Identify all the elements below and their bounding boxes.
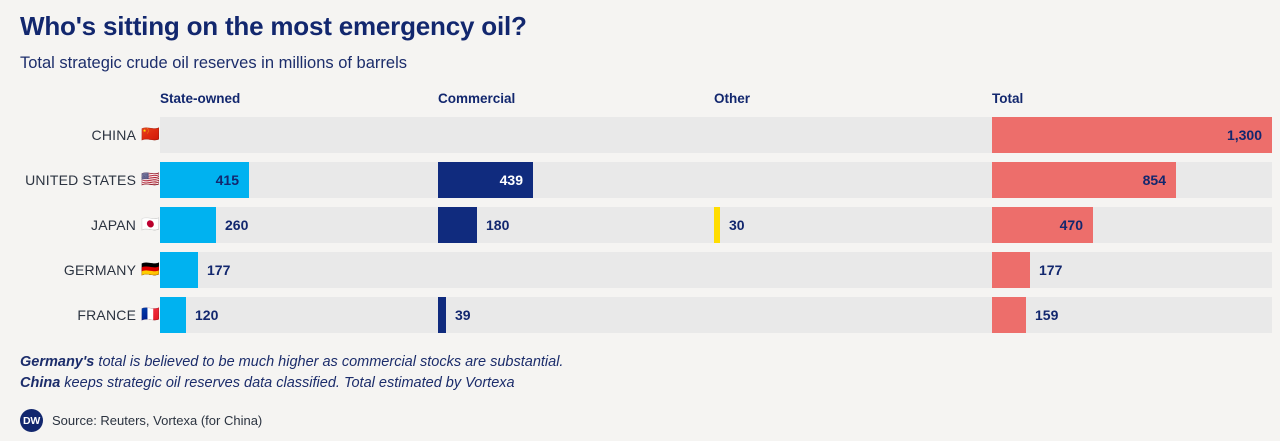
bar-track-state-owned: 260 [160, 207, 440, 243]
flag-us-icon: 🇺🇸 [141, 172, 160, 187]
bar-track-total: 177 [992, 252, 1272, 288]
country-name: UNITED STATES [25, 172, 136, 188]
bar-value-total: 470 [1060, 207, 1083, 243]
bar-state-owned[interactable]: 177 [160, 252, 198, 288]
bar-value-state-owned: 260 [225, 207, 248, 243]
bar-state-owned[interactable]: 260 [160, 207, 216, 243]
bar-track-commercial: 39 [438, 297, 718, 333]
row-label-united-states: UNITED STATES🇺🇸 [20, 162, 160, 198]
bar-total[interactable]: 1,300 [992, 117, 1272, 153]
bar-track-other [714, 297, 994, 333]
bar-track-other: 30 [714, 207, 994, 243]
footnote-china-text: keeps strategic oil reserves data classi… [60, 375, 514, 391]
bar-value-commercial: 180 [486, 207, 509, 243]
footnote-china-lead: China [20, 375, 60, 391]
bar-track-other [714, 162, 994, 198]
bar-state-owned[interactable]: 120 [160, 297, 186, 333]
bar-track-total: 1,300 [992, 117, 1272, 153]
bar-commercial[interactable]: 180 [438, 207, 477, 243]
bar-track-commercial [438, 252, 718, 288]
bar-value-total: 1,300 [1227, 117, 1262, 153]
bar-track-commercial: 180 [438, 207, 718, 243]
flag-cn-icon: 🇨🇳 [141, 127, 160, 142]
table-row: JAPAN🇯🇵26018030470 [20, 207, 1260, 243]
country-name: CHINA [92, 127, 137, 143]
bar-total[interactable]: 470 [992, 207, 1093, 243]
flag-de-icon: 🇩🇪 [141, 262, 160, 277]
table-row: CHINA🇨🇳1,300 [20, 117, 1260, 153]
footnote-germany-text: total is believed to be much higher as c… [94, 354, 563, 370]
column-headers: State-ownedCommercialOtherTotal [20, 91, 1260, 113]
bar-track-state-owned: 415 [160, 162, 440, 198]
bar-track-other [714, 252, 994, 288]
column-header-state-owned: State-owned [160, 91, 240, 106]
country-name: GERMANY [64, 262, 136, 278]
row-label-china: CHINA🇨🇳 [20, 117, 160, 153]
footnote-china: China keeps strategic oil reserves data … [20, 373, 563, 394]
bar-total[interactable]: 177 [992, 252, 1030, 288]
flag-jp-icon: 🇯🇵 [141, 217, 160, 232]
bar-other[interactable]: 30 [714, 207, 720, 243]
footnote-germany-lead: Germany's [20, 354, 94, 370]
bar-value-commercial: 439 [500, 162, 523, 198]
table-row: GERMANY🇩🇪177177 [20, 252, 1260, 288]
bar-commercial[interactable]: 439 [438, 162, 533, 198]
row-label-france: FRANCE🇫🇷 [20, 297, 160, 333]
bar-total[interactable]: 854 [992, 162, 1176, 198]
bar-value-other: 30 [729, 207, 745, 243]
bar-commercial[interactable]: 39 [438, 297, 446, 333]
page-title: Who's sitting on the most emergency oil? [20, 0, 1260, 42]
bar-state-owned[interactable]: 415 [160, 162, 249, 198]
bar-track-state-owned [160, 117, 440, 153]
row-label-japan: JAPAN🇯🇵 [20, 207, 160, 243]
dw-logo-icon: DW [20, 409, 43, 432]
chart-container: Who's sitting on the most emergency oil?… [0, 0, 1280, 441]
country-name: JAPAN [91, 217, 136, 233]
bar-value-total: 159 [1035, 297, 1058, 333]
row-label-germany: GERMANY🇩🇪 [20, 252, 160, 288]
column-header-commercial: Commercial [438, 91, 515, 106]
bar-track-other [714, 117, 994, 153]
bar-total[interactable]: 159 [992, 297, 1026, 333]
bar-track-commercial [438, 117, 718, 153]
bar-value-state-owned: 415 [216, 162, 239, 198]
footnotes: Germany's total is believed to be much h… [20, 352, 563, 394]
table-row: FRANCE🇫🇷12039159 [20, 297, 1260, 333]
bar-value-total: 854 [1143, 162, 1166, 198]
bar-value-total: 177 [1039, 252, 1062, 288]
bar-track-commercial: 439 [438, 162, 718, 198]
bar-value-state-owned: 177 [207, 252, 230, 288]
footnote-germany: Germany's total is believed to be much h… [20, 352, 563, 373]
country-name: FRANCE [77, 307, 136, 323]
bar-track-total: 470 [992, 207, 1272, 243]
bar-value-state-owned: 120 [195, 297, 218, 333]
bar-track-state-owned: 120 [160, 297, 440, 333]
column-header-other: Other [714, 91, 750, 106]
bar-track-total: 854 [992, 162, 1272, 198]
bar-track-total: 159 [992, 297, 1272, 333]
table-row: UNITED STATES🇺🇸415439854 [20, 162, 1260, 198]
chart-rows: CHINA🇨🇳1,300UNITED STATES🇺🇸415439854JAPA… [20, 117, 1260, 333]
chart-subtitle: Total strategic crude oil reserves in mi… [20, 42, 1260, 74]
column-header-total: Total [992, 91, 1023, 106]
flag-fr-icon: 🇫🇷 [141, 307, 160, 322]
bar-track-state-owned: 177 [160, 252, 440, 288]
source-text: Source: Reuters, Vortexa (for China) [52, 413, 262, 428]
source-row: DW Source: Reuters, Vortexa (for China) [20, 409, 262, 432]
bar-value-commercial: 39 [455, 297, 471, 333]
